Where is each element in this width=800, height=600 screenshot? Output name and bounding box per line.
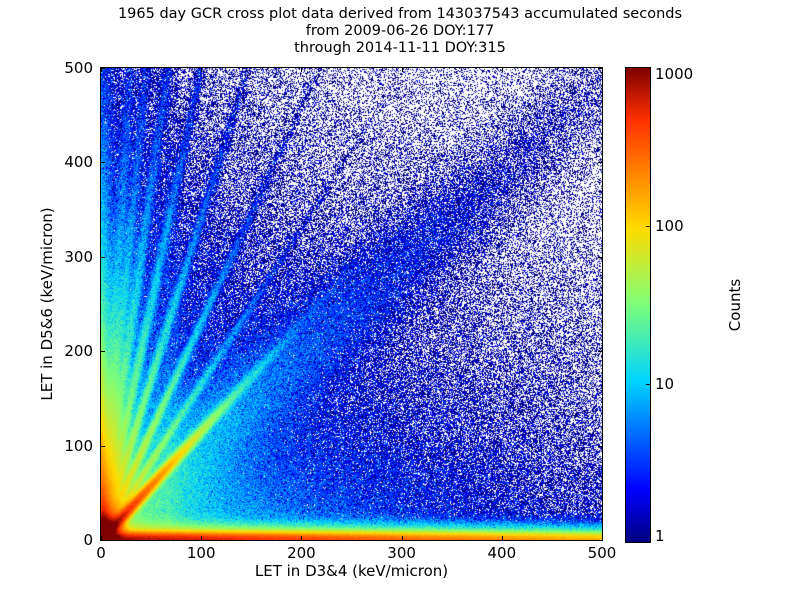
x-axis-tick — [502, 68, 503, 72]
colorbar-tick — [646, 384, 650, 385]
y-axis-tick — [598, 351, 602, 352]
colorbar-label: Counts — [726, 67, 744, 543]
x-axis-tick — [301, 68, 302, 72]
y-axis-tick — [598, 446, 602, 447]
colorbar-tick-label: 1 — [655, 527, 665, 545]
x-axis-tick — [502, 536, 503, 540]
x-axis-tick — [602, 68, 603, 72]
colorbar-tick-label: 10 — [655, 375, 674, 393]
y-axis-tick — [101, 446, 105, 447]
y-axis-tick — [101, 162, 105, 163]
colorbar-tick-label: 100 — [655, 217, 684, 235]
x-axis-tick-label: 300 — [387, 544, 416, 562]
y-axis-tick — [598, 257, 602, 258]
colorbar-tick — [646, 226, 650, 227]
x-axis-tick — [301, 536, 302, 540]
plot-area — [100, 67, 603, 541]
x-axis-tick — [402, 536, 403, 540]
y-axis-tick — [598, 162, 602, 163]
chart-title-line-1: 1965 day GCR cross plot data derived fro… — [0, 6, 800, 23]
chart-title: 1965 day GCR cross plot data derived fro… — [0, 6, 800, 57]
x-axis-tick-label: 400 — [487, 544, 516, 562]
x-axis-tick-label: 0 — [96, 544, 106, 562]
y-axis-tick — [101, 540, 105, 541]
x-axis-tick — [201, 68, 202, 72]
y-axis-tick — [101, 68, 105, 69]
y-axis-tick — [598, 68, 602, 69]
x-axis-tick-label: 100 — [187, 544, 216, 562]
colorbar-gradient — [626, 68, 650, 542]
x-axis-tick-label: 200 — [287, 544, 316, 562]
y-axis-tick — [101, 257, 105, 258]
x-axis-tick-label: 500 — [588, 544, 617, 562]
y-axis-tick — [598, 540, 602, 541]
colorbar — [625, 67, 651, 543]
chart-title-line-3: through 2014-11-11 DOY:315 — [0, 40, 800, 57]
scatter-plot-figure: 1965 day GCR cross plot data derived fro… — [0, 0, 800, 600]
colorbar-tick-label: 1000 — [655, 65, 693, 83]
x-axis-tick — [602, 536, 603, 540]
x-axis-label: LET in D3&4 (keV/micron) — [100, 562, 603, 580]
x-axis-tick — [402, 68, 403, 72]
x-axis-tick — [201, 536, 202, 540]
y-axis-label: LET in D5&6 (keV/micron) — [38, 67, 56, 541]
y-axis-tick — [101, 351, 105, 352]
chart-title-line-2: from 2009-06-26 DOY:177 — [0, 23, 800, 40]
density-scatter-canvas — [101, 68, 602, 540]
